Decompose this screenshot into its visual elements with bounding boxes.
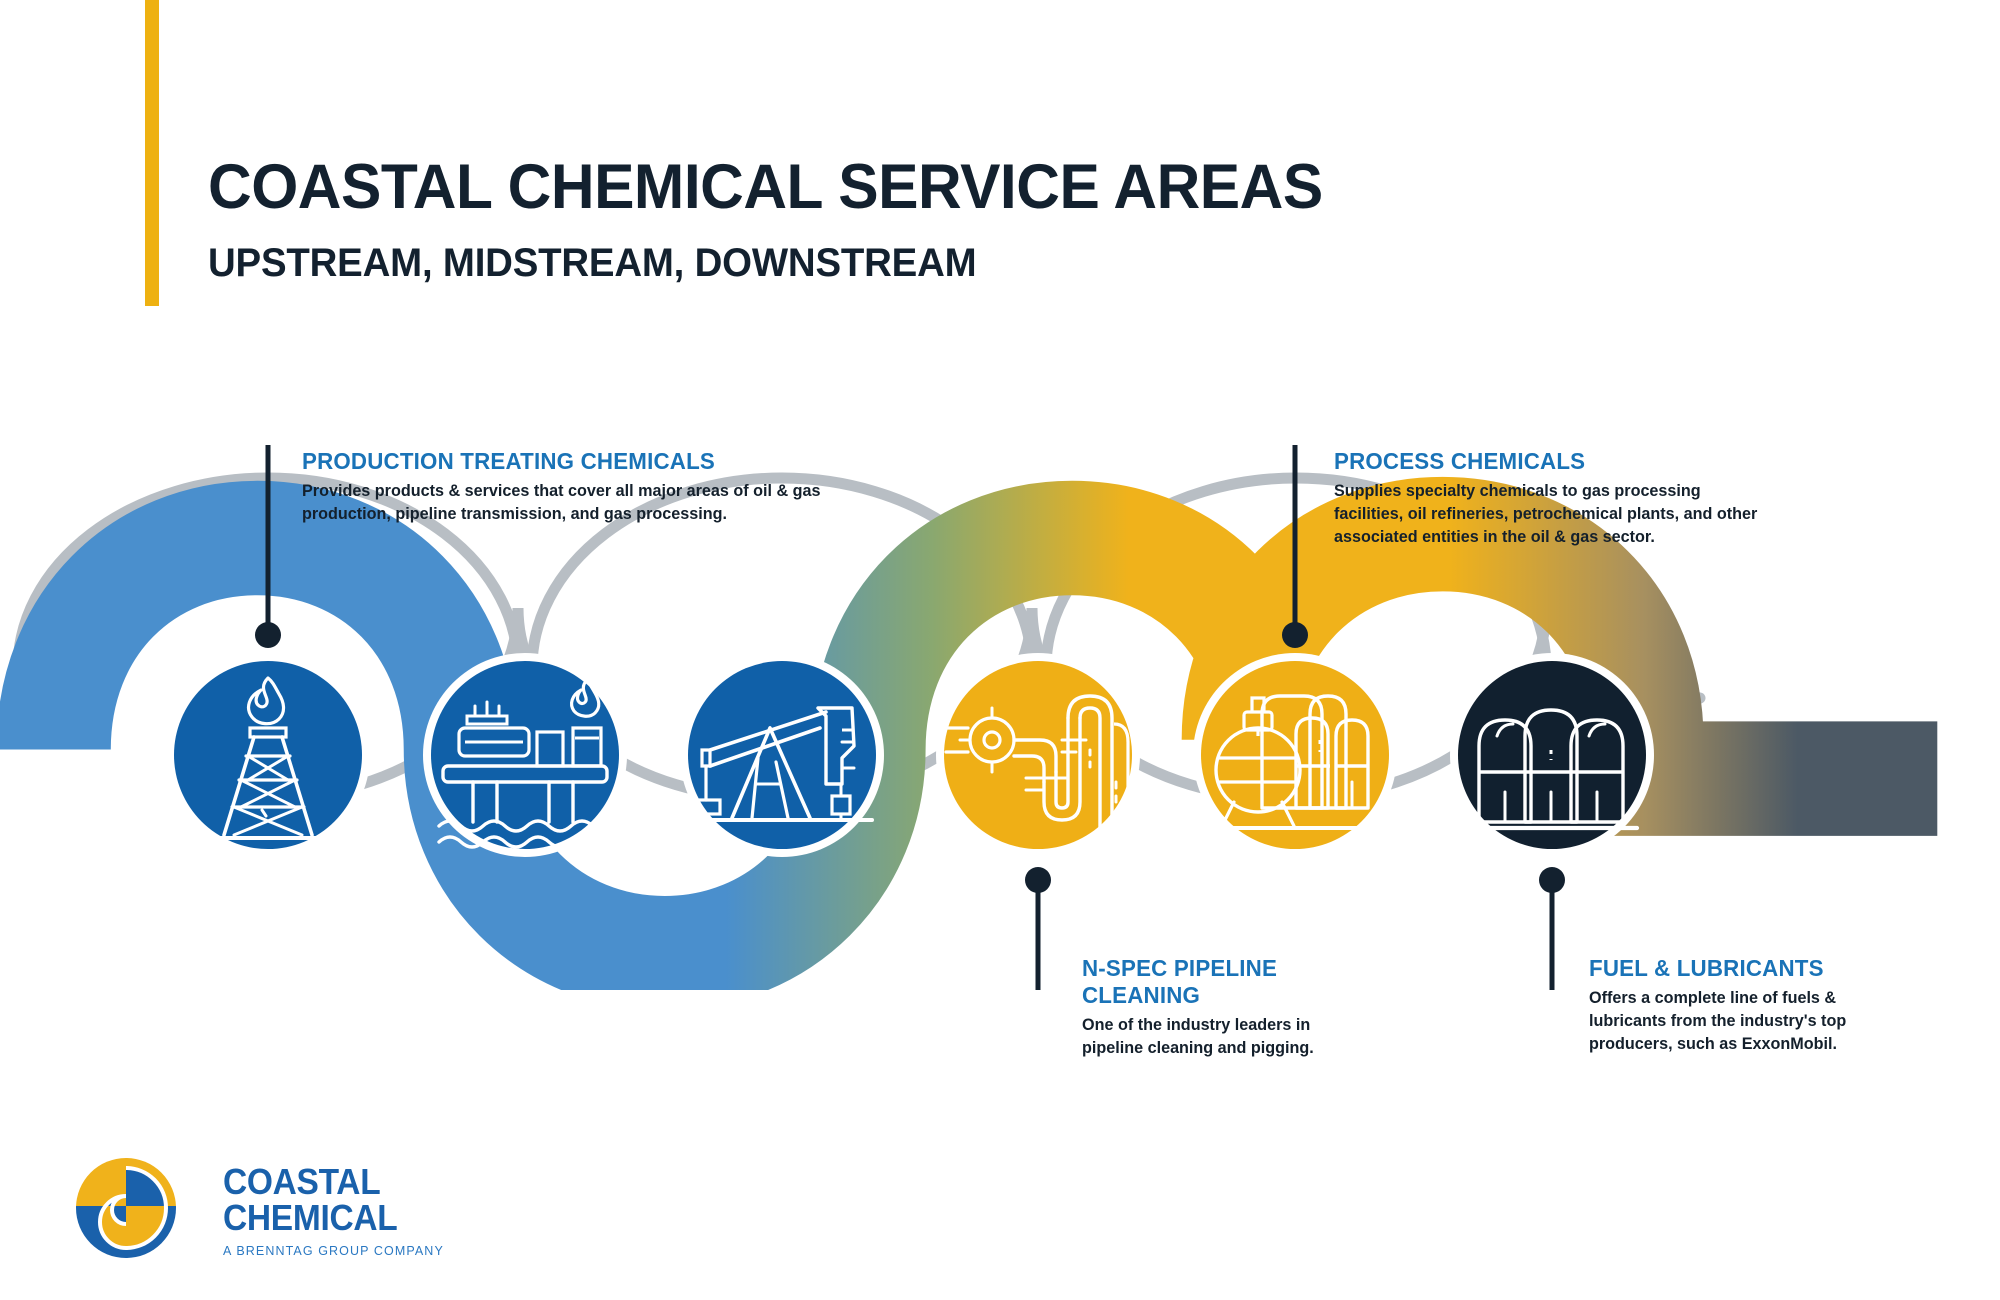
circle-pumpjack[interactable] [680, 653, 884, 857]
infographic-canvas: COASTAL CHEMICAL SERVICE AREAS UPSTREAM,… [0, 0, 2000, 1300]
yellow-accent-bar [145, 0, 159, 306]
callout-heading: PRODUCTION TREATING CHEMICALS [302, 448, 826, 475]
circle-storage-tanks[interactable] [1450, 653, 1654, 857]
callout-heading: PROCESS CHEMICALS [1334, 448, 1761, 475]
page-title: COASTAL CHEMICAL SERVICE AREAS [208, 156, 1323, 219]
callout-body: One of the industry leaders in pipeline … [1082, 1014, 1356, 1060]
callout-body: Provides products & services that cover … [302, 480, 831, 526]
callout-body: Offers a complete line of fuels & lubric… [1589, 987, 1883, 1055]
circle-offshore-platform[interactable] [423, 653, 627, 857]
callout-process-chemicals: PROCESS CHEMICALS Supplies specialty che… [1334, 448, 1774, 548]
callout-production-treating-chemicals: PRODUCTION TREATING CHEMICALS Provides p… [302, 448, 842, 526]
callout-body: Supplies specialty chemicals to gas proc… [1334, 480, 1765, 548]
coastal-swirl-icon [68, 1156, 190, 1264]
coastal-chemical-logo[interactable]: COASTAL CHEMICAL A BRENNTAG GROUP COMPAN… [68, 1156, 498, 1266]
circle-drilling-rig[interactable] [166, 653, 370, 857]
logo-text: COASTAL CHEMICAL A BRENNTAG GROUP COMPAN… [223, 1164, 498, 1258]
callout-fuel-and-lubricants: FUEL & LUBRICANTS Offers a complete line… [1589, 955, 1889, 1055]
logo-tagline: A BRENNTAG GROUP COMPANY [223, 1245, 498, 1258]
circle-pipeline-valve[interactable] [936, 653, 1140, 857]
callout-heading: N-SPEC PIPELINE CLEANING [1082, 955, 1354, 1009]
callout-nspec-pipeline-cleaning: N-SPEC PIPELINE CLEANING One of the indu… [1082, 955, 1362, 1060]
circle-gas-processing[interactable] [1193, 653, 1397, 857]
page-subtitle: UPSTREAM, MIDSTREAM, DOWNSTREAM [208, 243, 1323, 283]
callout-heading: FUEL & LUBRICANTS [1589, 955, 1880, 982]
title-block: COASTAL CHEMICAL SERVICE AREAS UPSTREAM,… [208, 156, 1369, 283]
logo-company-name: COASTAL CHEMICAL [223, 1164, 479, 1236]
